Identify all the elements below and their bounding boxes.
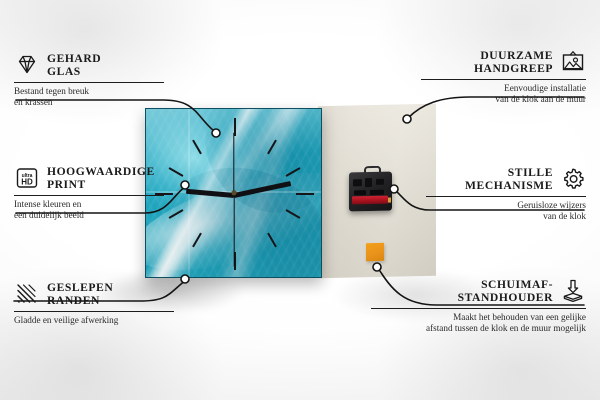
infographic-canvas: GEHARD GLAS Bestand tegen breuk en krass… (0, 0, 600, 400)
feature-subtitle: Bestand tegen breuk en krassen (14, 86, 164, 108)
feature-rule (421, 79, 586, 80)
feature-schuimafstandhouder: SCHUIMAF- STANDHOUDER Maakt het behouden… (371, 278, 586, 334)
feature-hoogwaardige-print: ultra HD HOOGWAARDIGE PRINT Intense kleu… (14, 165, 164, 221)
feature-subtitle: Eenvoudige installatie van de klok aan d… (421, 83, 586, 105)
feature-rule (14, 82, 164, 83)
connector-node-duurzame-handgreep (403, 115, 411, 123)
feature-title: DUURZAME HANDGREEP (474, 49, 553, 76)
feature-subtitle: Geruisloze wijzers van de klok (426, 200, 586, 222)
feature-rule (426, 196, 586, 197)
feature-title: GEHARD GLAS (47, 52, 101, 79)
feature-subtitle: Gladde en veilige afwerking (14, 315, 174, 326)
svg-text:HD: HD (21, 178, 33, 187)
spacer-press-icon (560, 278, 586, 304)
ultra-hd-badge-icon: ultra HD (14, 165, 40, 191)
feature-geslepen-randen: GESLEPEN RANDEN Gladde en veilige afwerk… (14, 281, 174, 326)
connector-node-schuimafstandhouder (373, 263, 381, 271)
feature-duurzame-handgreep: DUURZAME HANDGREEP Eenvoudige installati… (421, 49, 586, 105)
connector-node-stille-mechanisme (390, 185, 398, 193)
framed-picture-icon (560, 49, 586, 75)
diamond-icon (14, 52, 40, 78)
feature-subtitle: Maakt het behouden van een gelijke afsta… (371, 312, 586, 334)
gear-icon (560, 166, 586, 192)
feature-stille-mechanisme: STILLE MECHANISME Geruisloze wijzers van… (426, 166, 586, 222)
feature-gehard-glas: GEHARD GLAS Bestand tegen breuk en krass… (14, 52, 164, 108)
feature-title: HOOGWAARDIGE PRINT (47, 165, 155, 192)
connector-node-hoogwaardige-print (181, 181, 189, 189)
feature-title: GESLEPEN RANDEN (47, 281, 113, 308)
feature-rule (14, 311, 174, 312)
connector-node-geslepen-randen (181, 275, 189, 283)
beveled-edges-icon (14, 281, 40, 307)
feature-title: SCHUIMAF- STANDHOUDER (458, 278, 553, 305)
feature-rule (371, 308, 586, 309)
connector-node-gehard-glas (212, 129, 220, 137)
feature-rule (14, 195, 164, 196)
feature-subtitle: Intense kleuren en een duidelijk beeld (14, 199, 164, 221)
feature-title: STILLE MECHANISME (465, 166, 553, 193)
